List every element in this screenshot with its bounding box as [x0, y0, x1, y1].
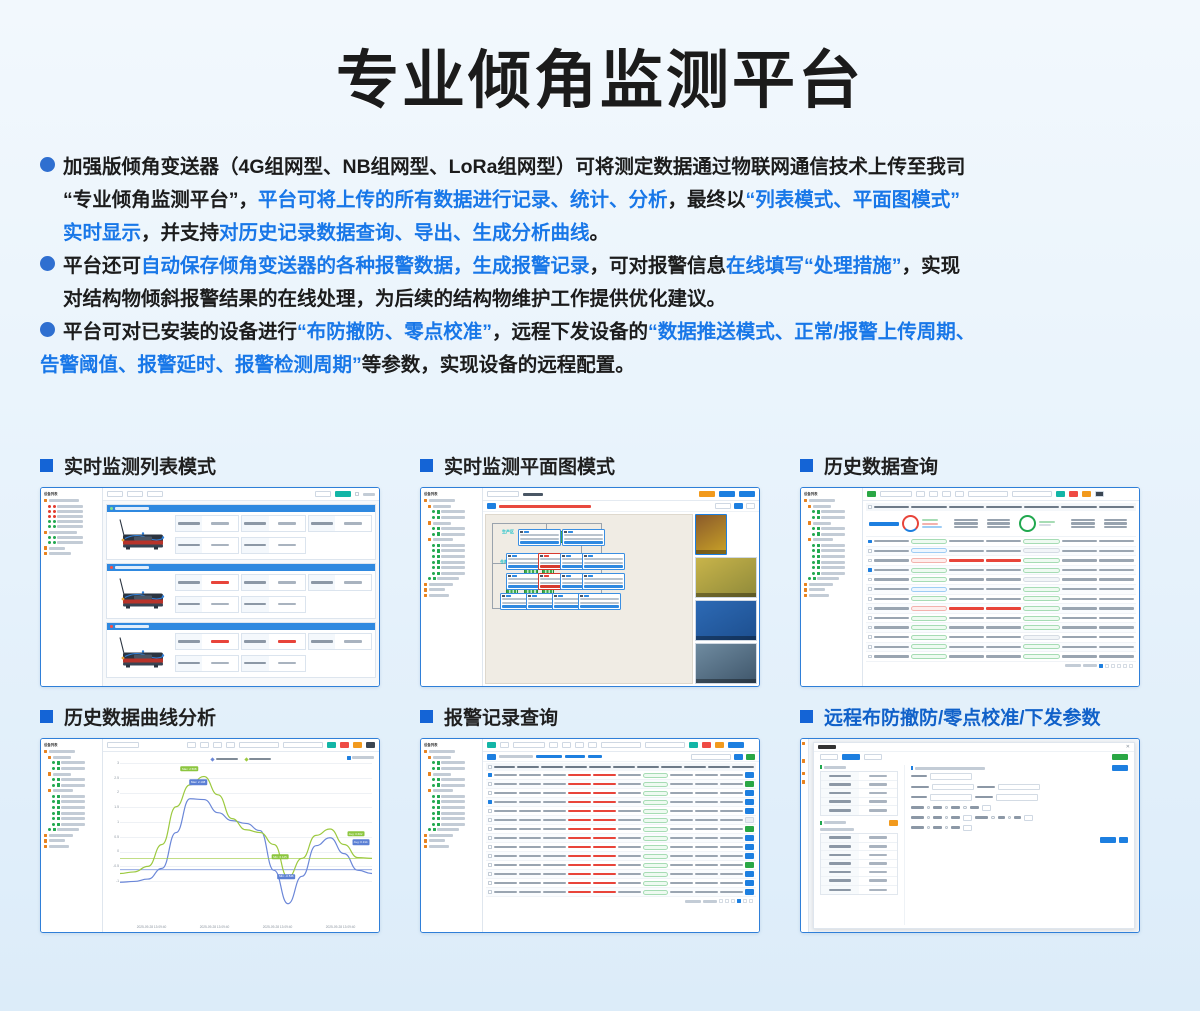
device-card[interactable] [518, 529, 561, 546]
tree-item[interactable] [424, 767, 480, 770]
table-row[interactable] [866, 547, 1136, 557]
row-checkbox[interactable] [488, 845, 492, 849]
alarm-only-checkbox[interactable] [355, 492, 359, 496]
tree-group[interactable] [424, 839, 480, 842]
tree-group[interactable] [44, 772, 100, 775]
tree-item[interactable] [44, 778, 100, 781]
tab-node-list[interactable] [864, 754, 882, 760]
pager-page[interactable] [737, 899, 741, 903]
send-button[interactable] [1024, 815, 1033, 821]
range-button[interactable] [549, 742, 558, 748]
export-button[interactable] [353, 742, 362, 748]
table-row[interactable] [866, 556, 1136, 566]
tree-item[interactable] [44, 806, 100, 809]
camera-photo[interactable] [695, 514, 727, 555]
range-button[interactable] [942, 491, 951, 497]
screenshot-alarm-records[interactable]: 设备列表 [420, 738, 760, 933]
tree-item[interactable] [424, 828, 480, 831]
table-row[interactable] [486, 852, 756, 861]
pager-page[interactable] [1123, 664, 1127, 668]
alarm-upload-input[interactable] [998, 784, 1040, 791]
tree-item[interactable] [424, 811, 480, 814]
list-toolbar[interactable] [103, 488, 379, 501]
grid-view-icon[interactable] [1095, 491, 1104, 497]
range-button[interactable] [226, 742, 235, 748]
pager-page[interactable] [1105, 664, 1109, 668]
table-row[interactable] [486, 807, 756, 816]
tree-group[interactable] [804, 505, 860, 508]
cell-action-button[interactable] [745, 817, 754, 823]
cell-action-button[interactable] [745, 880, 754, 886]
pagination[interactable] [486, 897, 756, 905]
table-row[interactable] [486, 789, 756, 798]
tree-group[interactable] [44, 750, 100, 753]
row-checkbox[interactable] [488, 863, 492, 867]
device-card[interactable] [582, 553, 625, 570]
tree-group[interactable] [804, 594, 860, 597]
plan-toolbar[interactable] [483, 488, 759, 501]
table-row[interactable] [866, 652, 1136, 662]
tree-group[interactable] [424, 538, 480, 541]
range-button[interactable] [588, 742, 597, 748]
tree-group[interactable] [424, 499, 480, 502]
pager-page[interactable] [719, 899, 723, 903]
camera-photo[interactable] [695, 557, 757, 598]
device-panel[interactable] [106, 622, 376, 678]
zero-calibration-button[interactable] [1112, 754, 1128, 760]
range-button[interactable] [929, 491, 938, 497]
device-tree-sidebar[interactable]: 设备列表 [41, 739, 103, 932]
tree-group[interactable] [424, 845, 480, 848]
cell-action-button[interactable] [745, 808, 754, 814]
send-button[interactable] [963, 815, 972, 821]
table-row[interactable] [866, 633, 1136, 643]
toolbar-button[interactable] [107, 491, 123, 497]
tree-item[interactable] [424, 532, 480, 535]
alarm-toolbar[interactable] [483, 739, 759, 752]
tab-device-info[interactable] [820, 754, 838, 760]
tab-send-params[interactable] [842, 754, 860, 760]
cell-action-button[interactable] [745, 799, 754, 805]
tree-item[interactable] [804, 510, 860, 513]
pager-page[interactable] [1111, 664, 1115, 668]
tree-item[interactable] [804, 577, 860, 580]
range-button[interactable] [575, 742, 584, 748]
row-checkbox[interactable] [868, 540, 872, 544]
tree-item[interactable] [424, 566, 480, 569]
tree-item[interactable] [424, 555, 480, 558]
date-to-field[interactable] [645, 742, 685, 748]
tree-item[interactable] [424, 510, 480, 513]
tree-group[interactable] [424, 588, 480, 591]
view-mode-list-button[interactable] [335, 491, 351, 497]
tree-group[interactable] [44, 789, 100, 792]
cell-action-button[interactable] [745, 772, 754, 778]
device-panel[interactable] [106, 504, 376, 560]
tree-item[interactable] [44, 541, 100, 544]
edit-name-button[interactable] [699, 491, 715, 497]
send-button[interactable] [963, 825, 972, 831]
table-row[interactable] [486, 825, 756, 834]
toolbar-button[interactable] [127, 491, 143, 497]
tree-group[interactable] [804, 583, 860, 586]
screenshot-list-mode[interactable]: 设备列表 [40, 487, 380, 687]
cell-action-button[interactable] [745, 826, 754, 832]
alarm-filter-bar[interactable] [483, 752, 759, 762]
tree-item[interactable] [804, 532, 860, 535]
device-card[interactable] [562, 529, 605, 546]
history-toolbar[interactable] [863, 488, 1139, 501]
tree-item[interactable] [44, 767, 100, 770]
table-row[interactable] [486, 771, 756, 780]
radio-option[interactable] [945, 826, 948, 829]
cell-action-button[interactable] [745, 835, 754, 841]
range-button[interactable] [200, 742, 209, 748]
device-tree-sidebar[interactable] [801, 739, 809, 932]
tree-item[interactable] [44, 811, 100, 814]
read-params-button[interactable] [889, 820, 898, 826]
date-from-field[interactable] [239, 742, 279, 748]
normal-upload-input[interactable] [932, 784, 974, 791]
load-default-params-button[interactable] [1112, 765, 1128, 771]
table-row[interactable] [866, 537, 1136, 547]
range-button[interactable] [562, 742, 571, 748]
radio-option[interactable] [927, 806, 930, 809]
query-button[interactable] [1056, 491, 1065, 497]
row-checkbox[interactable] [868, 607, 872, 611]
range-button[interactable] [916, 491, 925, 497]
tree-item[interactable] [804, 560, 860, 563]
tree-item[interactable] [424, 795, 480, 798]
row-checkbox[interactable] [488, 872, 492, 876]
tree-item[interactable] [44, 520, 100, 523]
row-checkbox[interactable] [868, 655, 872, 659]
card-footer-button[interactable] [564, 541, 603, 544]
drag-mode-button[interactable] [734, 503, 743, 509]
caption-label: 远程布防撤防/零点校准/下发参数 [824, 703, 1101, 730]
radio-option[interactable] [1008, 816, 1011, 819]
tree-item[interactable] [44, 783, 100, 786]
device-tree-sidebar[interactable]: 设备列表 [421, 739, 483, 932]
tree-group[interactable] [44, 505, 100, 508]
tree-item[interactable] [424, 761, 480, 764]
row-checkbox[interactable] [488, 890, 492, 894]
screenshot-history-query[interactable]: 设备列表 [800, 487, 1140, 687]
tree-item[interactable] [424, 577, 480, 580]
radio-option[interactable] [945, 816, 948, 819]
dialog-right-pane[interactable] [904, 765, 1128, 925]
card-footer-button[interactable] [584, 565, 623, 568]
pager-page[interactable] [731, 899, 735, 903]
dialog-tabs[interactable] [814, 752, 1134, 762]
range-button[interactable] [187, 742, 196, 748]
row-checkbox[interactable] [868, 635, 872, 639]
date-from-field[interactable] [968, 491, 1008, 497]
add-position-button[interactable] [719, 491, 735, 497]
batch-arm-button[interactable] [739, 491, 755, 497]
pager-page[interactable] [743, 899, 747, 903]
row-checkbox[interactable] [488, 836, 492, 840]
camera-photo[interactable] [695, 643, 757, 684]
tree-item[interactable] [424, 783, 480, 786]
tree-group[interactable] [424, 750, 480, 753]
tree-group[interactable] [424, 594, 480, 597]
floor-plan-canvas[interactable]: 生产区仓库区生产车间办公区 [485, 514, 693, 684]
tree-item[interactable] [424, 516, 480, 519]
row-checkbox[interactable] [868, 645, 872, 649]
pager-page[interactable] [749, 899, 753, 903]
row-checkbox[interactable] [868, 549, 872, 553]
tree-item[interactable] [424, 817, 480, 820]
tree-item[interactable] [424, 544, 480, 547]
card-footer-button[interactable] [580, 605, 619, 608]
save-params-button[interactable] [1100, 837, 1116, 843]
screenshot-curve-analysis[interactable]: 设备列表 [40, 738, 380, 933]
tree-group[interactable] [44, 839, 100, 842]
close-icon[interactable]: ✕ [1126, 745, 1130, 750]
screenshot-plan-mode[interactable]: 设备列表 [420, 487, 760, 687]
table-row[interactable] [486, 834, 756, 843]
row-checkbox[interactable] [868, 597, 872, 601]
table-row[interactable] [866, 643, 1136, 653]
radio-option[interactable] [927, 816, 930, 819]
tree-group[interactable] [424, 521, 480, 524]
tree-item[interactable] [424, 549, 480, 552]
data-type-select[interactable] [880, 491, 912, 497]
table-row[interactable] [866, 604, 1136, 614]
range-button[interactable] [213, 742, 222, 748]
cell-arm-badge [1023, 644, 1060, 649]
select-all-checkbox[interactable] [868, 505, 872, 509]
date-to-field[interactable] [1012, 491, 1052, 497]
send-button[interactable] [982, 805, 991, 811]
export-button[interactable] [1082, 491, 1091, 497]
row-checkbox[interactable] [488, 881, 492, 885]
device-info-dialog[interactable]: ✕ [813, 742, 1135, 929]
radio-option[interactable] [945, 806, 948, 809]
reset-button[interactable] [340, 742, 349, 748]
row-checkbox[interactable] [488, 854, 492, 858]
pager-page[interactable] [1129, 664, 1133, 668]
search-button[interactable] [734, 754, 743, 760]
row-checkbox[interactable] [488, 773, 492, 777]
show-columns-button[interactable] [746, 754, 755, 760]
tree-group[interactable] [44, 499, 100, 502]
table-row[interactable] [866, 566, 1136, 576]
cell-action-button[interactable] [745, 844, 754, 850]
threshold-input[interactable] [930, 794, 972, 801]
device-tree-sidebar[interactable]: 设备列表 [41, 488, 103, 686]
query-button[interactable] [327, 742, 336, 748]
export-button[interactable] [715, 742, 724, 748]
table-row[interactable] [866, 595, 1136, 605]
row-checkbox[interactable] [868, 616, 872, 620]
plan-subbar[interactable] [483, 501, 759, 512]
row-checkbox[interactable] [488, 809, 492, 813]
tree-group[interactable] [804, 521, 860, 524]
tree-item[interactable] [44, 525, 100, 528]
row-checkbox[interactable] [868, 578, 872, 582]
search-input[interactable] [691, 754, 731, 760]
row-checkbox[interactable] [488, 818, 492, 822]
table-row[interactable] [486, 888, 756, 897]
set-backdrop-button[interactable] [487, 503, 496, 509]
cell-action-button[interactable] [745, 889, 754, 895]
chart-legend[interactable] [107, 755, 375, 763]
alarm-table[interactable] [483, 762, 759, 932]
view-mode-plan-button[interactable] [315, 491, 331, 497]
tree-item[interactable] [804, 527, 860, 530]
tree-group[interactable] [44, 834, 100, 837]
cell-action-button[interactable] [745, 790, 754, 796]
batch-process-button[interactable] [728, 742, 744, 748]
dialog-footer[interactable] [911, 837, 1128, 843]
device-tree-sidebar[interactable]: 设备列表 [801, 488, 863, 686]
warehouse-select[interactable] [487, 491, 519, 497]
legend-item[interactable] [245, 758, 272, 761]
tree-item[interactable] [44, 536, 100, 539]
fixed-mode-button[interactable] [746, 503, 755, 509]
data-type-select[interactable] [513, 742, 545, 748]
cell-action-button[interactable] [745, 871, 754, 877]
device-card[interactable] [582, 573, 625, 590]
tree-item[interactable] [44, 823, 100, 826]
tree-item[interactable] [424, 560, 480, 563]
row-checkbox[interactable] [488, 782, 492, 786]
tree-group[interactable] [424, 772, 480, 775]
tree-group[interactable] [424, 756, 480, 759]
radio-option[interactable] [963, 806, 966, 809]
reset-button[interactable] [702, 742, 711, 748]
card-footer-button[interactable] [584, 585, 623, 588]
toolbar-button[interactable] [147, 491, 163, 497]
table-row[interactable] [486, 861, 756, 870]
table-row[interactable] [486, 816, 756, 825]
curve-toolbar[interactable] [103, 739, 379, 752]
screenshot-remote-config[interactable]: ✕ [800, 738, 1140, 933]
tree-group[interactable] [44, 546, 100, 549]
camera-photo[interactable] [695, 600, 757, 641]
device-tree-sidebar[interactable]: 设备列表 [421, 488, 483, 686]
cell-handler [695, 837, 718, 839]
row-checkbox[interactable] [488, 791, 492, 795]
inclination-line-chart[interactable]: 32.521.510.50-0.5-1Max: 2.108Max: 2.568M… [103, 752, 379, 932]
select-all-checkbox[interactable] [488, 765, 492, 769]
pager-page[interactable] [725, 899, 729, 903]
row-checkbox[interactable] [868, 568, 872, 572]
tree-item[interactable] [44, 761, 100, 764]
tree-group[interactable] [804, 499, 860, 502]
tree-group[interactable] [424, 583, 480, 586]
tree-item[interactable] [44, 800, 100, 803]
grid-view-icon[interactable] [366, 742, 375, 748]
tree-item[interactable] [804, 516, 860, 519]
pager-page[interactable] [1117, 664, 1121, 668]
row-checkbox[interactable] [868, 587, 872, 591]
tree-group[interactable] [424, 834, 480, 837]
tree-item[interactable] [424, 778, 480, 781]
table-row[interactable] [866, 585, 1136, 595]
reset-button[interactable] [1069, 491, 1078, 497]
row-checkbox[interactable] [488, 827, 492, 831]
tree-item[interactable] [44, 795, 100, 798]
data-type-select[interactable] [107, 742, 139, 748]
tree-item[interactable] [804, 572, 860, 575]
row-checkbox[interactable] [868, 626, 872, 630]
tree-group[interactable] [44, 845, 100, 848]
table-row[interactable] [486, 780, 756, 789]
date-to-field[interactable] [283, 742, 323, 748]
send-button[interactable] [1119, 837, 1128, 843]
tree-item[interactable] [804, 566, 860, 569]
table-row[interactable] [486, 879, 756, 888]
row-checkbox[interactable] [868, 559, 872, 563]
tree-group[interactable] [44, 756, 100, 759]
tree-group[interactable] [44, 552, 100, 555]
tree-item[interactable] [424, 823, 480, 826]
row-checkbox[interactable] [488, 800, 492, 804]
tree-item[interactable] [804, 549, 860, 552]
cell-action-button[interactable] [745, 853, 754, 859]
alarm-stats-button[interactable] [487, 754, 496, 760]
card-footer-button[interactable] [520, 541, 559, 544]
tree-item[interactable] [44, 515, 100, 518]
radio-option[interactable] [991, 816, 994, 819]
tree-group[interactable] [424, 789, 480, 792]
table-row[interactable] [486, 843, 756, 852]
show-columns-button[interactable] [867, 491, 876, 497]
minmaxavg-checkbox[interactable] [347, 756, 374, 760]
radio-option[interactable] [927, 826, 930, 829]
tab-alarm-records[interactable] [487, 742, 496, 748]
query-button[interactable] [689, 742, 698, 748]
table-row[interactable] [866, 614, 1136, 624]
table-row[interactable] [866, 575, 1136, 585]
delay-input[interactable] [996, 794, 1038, 801]
tree-item[interactable] [44, 828, 100, 831]
tree-item[interactable] [44, 510, 100, 513]
device-panel[interactable] [106, 563, 376, 619]
table-row[interactable] [866, 623, 1136, 633]
tree-group[interactable] [424, 505, 480, 508]
range-button[interactable] [955, 491, 964, 497]
toggle-labels-button[interactable] [715, 503, 731, 509]
tree-group[interactable] [804, 588, 860, 591]
cell-action-button[interactable] [745, 862, 754, 868]
tree-item[interactable] [804, 555, 860, 558]
tree-item[interactable] [424, 572, 480, 575]
device-card[interactable] [578, 593, 621, 610]
table-row[interactable] [486, 870, 756, 879]
cell-action-button[interactable] [745, 781, 754, 787]
tree-group[interactable] [804, 538, 860, 541]
tab-history-alarms[interactable] [500, 742, 509, 748]
tree-item[interactable] [424, 806, 480, 809]
tree-item[interactable] [44, 817, 100, 820]
table-row[interactable] [486, 798, 756, 807]
date-from-field[interactable] [601, 742, 641, 748]
tree-item[interactable] [424, 527, 480, 530]
heartbeat-input[interactable] [930, 773, 972, 780]
pagination[interactable] [866, 662, 1136, 670]
legend-item[interactable] [211, 758, 238, 761]
history-table[interactable] [863, 501, 1139, 686]
pager-page[interactable] [1099, 664, 1103, 668]
tree-item[interactable] [804, 544, 860, 547]
tree-group[interactable] [44, 531, 100, 534]
tree-item[interactable] [424, 800, 480, 803]
params-form[interactable] [911, 773, 1128, 831]
